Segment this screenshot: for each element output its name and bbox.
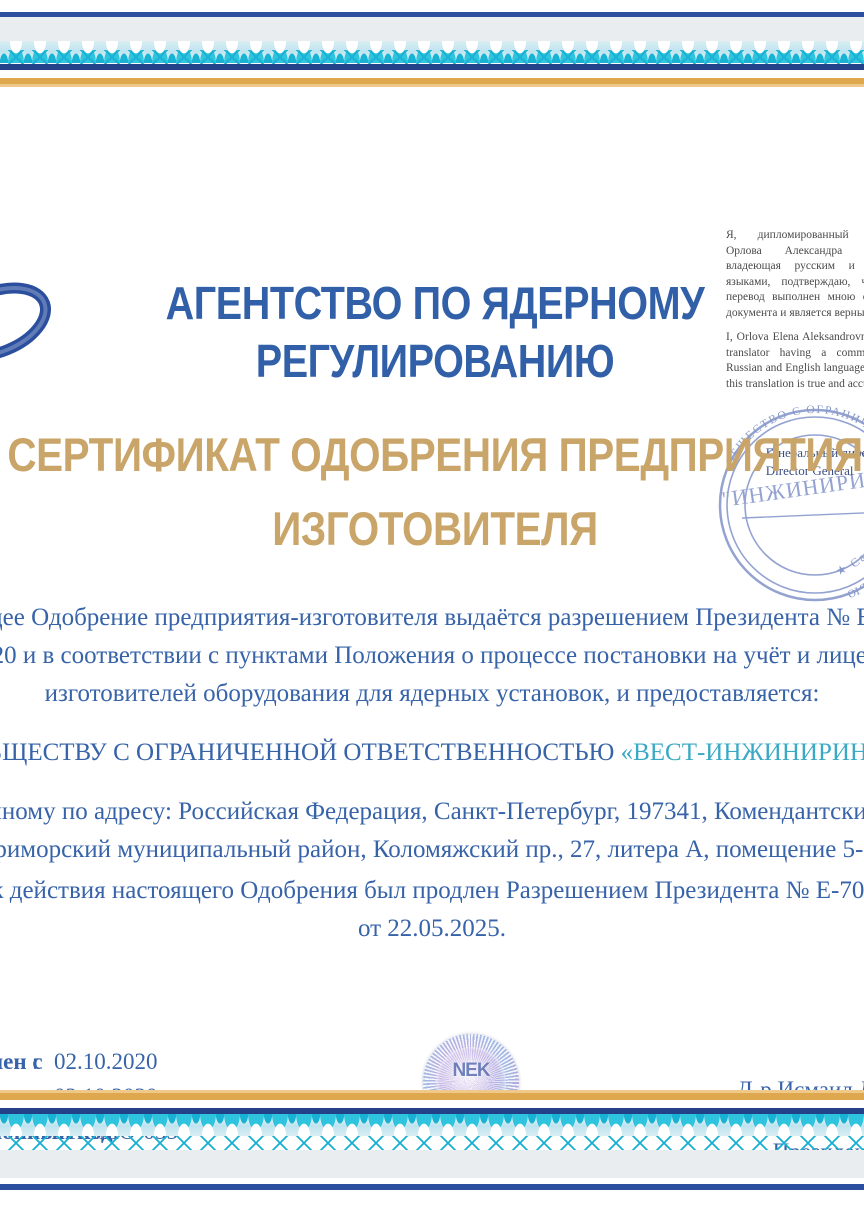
recipient-company-prefix: ОБЩЕСТВУ С ОГРАНИЧЕННОЙ ОТВЕТСТВЕННОСТЬЮ — [0, 739, 621, 766]
detail-label: Действителен с — [0, 1044, 32, 1079]
body-paragraph-1: Настоящее Одобрение предприятия-изготови… — [0, 599, 864, 713]
detail-separator: : — [32, 1044, 54, 1079]
bottom-motif-spikes — [0, 1136, 864, 1150]
bottom-band-grey — [0, 1150, 864, 1178]
top-rule-gold-light — [0, 84, 864, 87]
holo-seal-mark: NEK — [423, 1060, 519, 1082]
top-band-grey — [0, 17, 864, 41]
certificate-body: Я, дипломированный переводчик Орлова Але… — [0, 96, 864, 1096]
page-title-agency: АГЕНТСТВО ПО ЯДЕРНОМУ РЕГУЛИРОВАНИЮ — [0, 274, 864, 390]
bottom-border-ornament — [0, 1090, 864, 1220]
bottom-band-white — [0, 1100, 864, 1108]
bottom-rule-gold — [0, 1093, 864, 1100]
top-band-white — [0, 70, 864, 78]
certificate-page: Я, дипломированный переводчик Орлова Але… — [0, 0, 864, 1220]
bottom-rule-navy-outer — [0, 1184, 864, 1190]
detail-value: 02.10.2020 — [54, 1044, 158, 1079]
bottom-motif-lotus — [0, 1114, 864, 1136]
top-border-ornament — [0, 0, 864, 96]
recipient-company-line: ОБЩЕСТВУ С ОГРАНИЧЕННОЙ ОТВЕТСТВЕННОСТЬЮ… — [0, 734, 864, 772]
body-paragraph-renewal: Срок действия настоящего Одобрения был п… — [0, 872, 864, 948]
top-motif-spikes — [0, 50, 864, 64]
page-subtitle-certificate: СЕРТИФИКАТ ОДОБРЕНИЯ ПРЕДПРИЯТИЯ ИЗГОТОВ… — [0, 418, 864, 566]
recipient-company-name: «ВЕСТ-ИНЖИНИРИНГ» — [621, 739, 864, 766]
body-paragraph-address: расположенному по адресу: Российская Фед… — [0, 793, 864, 869]
detail-row-valid-from: Действителен с : 02.10.2020 — [0, 1044, 178, 1079]
